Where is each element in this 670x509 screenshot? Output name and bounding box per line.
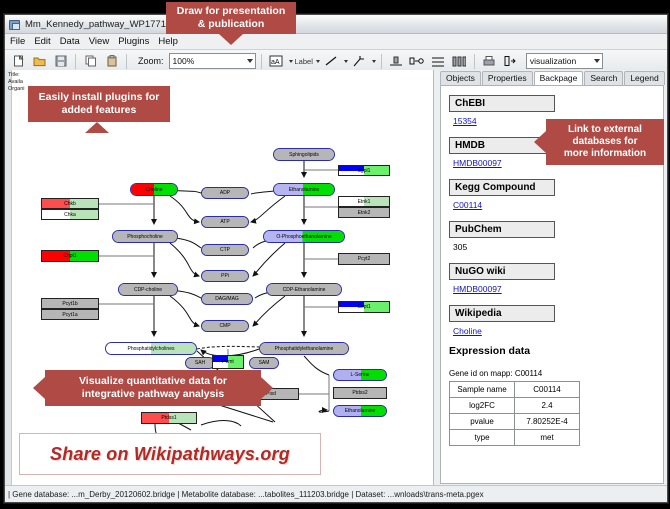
- tab-legend[interactable]: Legend: [624, 71, 664, 85]
- callout-visualize: Visualize quantitative data for integrat…: [45, 370, 261, 406]
- table-row: pvalue 7.80252E-4: [450, 414, 580, 430]
- table-cell-value: 2.4: [515, 398, 580, 414]
- align-tool-icon[interactable]: [387, 52, 406, 71]
- node-label: O-Phosphoethanolamine: [275, 234, 332, 240]
- gene-node[interactable]: Chpt1: [41, 250, 99, 262]
- node-label: CDP-Ethanolamine: [282, 287, 327, 293]
- node-label: CDP-choline: [133, 287, 163, 293]
- metabolite-node[interactable]: Choline: [130, 183, 178, 196]
- menu-item-data[interactable]: Data: [60, 36, 80, 47]
- toolbar-separator: [474, 54, 475, 69]
- metabolite-node[interactable]: DAG/MAG: [201, 293, 253, 305]
- metabolite-node[interactable]: Ethanolamine: [273, 183, 335, 196]
- pathvisio-window: Mm_Kennedy_pathway_WP1771_45176.gpml Fil…: [4, 14, 668, 503]
- db-link-kegg[interactable]: C00114: [453, 200, 663, 210]
- node-label: SAM: [258, 360, 271, 366]
- tab-backpage[interactable]: Backpage: [534, 71, 584, 86]
- callout-plugins-text: Easily install plugins for added feature…: [39, 91, 160, 117]
- callout-visualize-arrow-left-icon: [33, 377, 45, 399]
- db-header-kegg: Kegg Compound: [449, 179, 555, 196]
- interaction-tool-icon[interactable]: [350, 52, 369, 71]
- gene-node[interactable]: Pemt: [212, 355, 244, 369]
- db-header-wikipedia: Wikipedia: [449, 305, 555, 322]
- label-tool-label[interactable]: Label: [295, 57, 313, 66]
- db-link-wikipedia[interactable]: Choline: [453, 326, 663, 336]
- menu-item-file[interactable]: File: [10, 36, 25, 47]
- node-label: Chkb: [63, 201, 77, 207]
- menu-item-edit[interactable]: Edit: [34, 36, 50, 47]
- visualization-combo[interactable]: visualization: [526, 53, 603, 69]
- extra-tool-icon[interactable]: [501, 52, 520, 71]
- callout-links: Link to external databases for more info…: [546, 119, 664, 165]
- metabolite-node[interactable]: Phosphatidylethanolamine: [259, 342, 349, 355]
- callout-draw: Draw for presentation & publication: [166, 2, 296, 34]
- node-label: Pemt: [221, 359, 235, 365]
- gene-node[interactable]: Sgpl1: [338, 165, 390, 176]
- node-label: Pcyt2: [357, 256, 372, 262]
- db-link-nugo[interactable]: HMDB00097: [453, 284, 663, 294]
- copy-icon[interactable]: [81, 52, 100, 71]
- node-label: Etnk1: [357, 199, 372, 205]
- distribute-tool-icon[interactable]: [450, 52, 469, 71]
- menu-item-view[interactable]: View: [89, 36, 109, 47]
- screenshot-root: Mm_Kennedy_pathway_WP1771_45176.gpml Fil…: [0, 0, 670, 509]
- node-label: Phosphatidylethanolamine: [274, 346, 335, 352]
- db-header-nugo: NuGO wiki: [449, 263, 555, 280]
- node-label: ATP: [219, 219, 230, 225]
- metabolite-node[interactable]: L-Serine: [333, 369, 387, 381]
- metabolite-node[interactable]: Ethanolamine: [333, 405, 387, 417]
- callout-links-arrow-icon: [534, 131, 546, 153]
- chevron-down-icon: [594, 59, 600, 63]
- group-tool-icon[interactable]: [408, 52, 427, 71]
- db-header-pubchem: PubChem: [449, 221, 555, 238]
- node-label: SAH: [194, 360, 206, 366]
- interaction-tool-chevron-down-icon[interactable]: [372, 60, 376, 63]
- gene-node[interactable]: Etnk2: [338, 207, 390, 218]
- node-label: ADP: [219, 190, 231, 196]
- tab-properties[interactable]: Properties: [482, 71, 533, 85]
- table-row: Sample name C00114: [450, 382, 580, 398]
- zoom-label: Zoom:: [138, 56, 164, 66]
- node-label: Chpt1: [62, 253, 77, 259]
- label-tool-chevron-down-icon[interactable]: [316, 60, 320, 63]
- svg-text:aA: aA: [271, 59, 280, 66]
- gene-node[interactable]: Pcyt1a: [41, 309, 99, 320]
- callout-links-text: Link to external databases for more info…: [564, 124, 646, 160]
- share-banner: Share on Wikipathways.org: [19, 433, 321, 475]
- table-row: type met: [450, 430, 580, 446]
- db-header-chebi: ChEBI: [449, 95, 555, 112]
- table-cell-key: log2FC: [450, 398, 515, 414]
- new-file-icon[interactable]: [9, 52, 28, 71]
- node-label: Sgpl1: [357, 168, 372, 174]
- callout-visualize-text: Visualize quantitative data for integrat…: [79, 375, 227, 401]
- menu-item-help[interactable]: Help: [158, 36, 178, 47]
- stack-tool-icon[interactable]: [429, 52, 448, 71]
- menu-item-plugins[interactable]: Plugins: [118, 36, 149, 47]
- metabolite-node[interactable]: Sphingolipids: [273, 148, 335, 161]
- gene-node[interactable]: Etnk1: [338, 196, 390, 207]
- node-label: Phosphocholine: [126, 234, 164, 240]
- gene-node[interactable]: Chkb: [41, 198, 99, 209]
- open-file-icon[interactable]: [30, 52, 49, 71]
- metabolite-node[interactable]: O-Phosphoethanolamine: [263, 230, 345, 243]
- metabolite-node[interactable]: SAM: [249, 357, 279, 369]
- node-label: Ethanolamine: [288, 187, 321, 193]
- node-label: Choline: [145, 187, 164, 193]
- save-file-icon[interactable]: [51, 52, 70, 71]
- node-label: Phosphatidylcholines: [127, 346, 176, 352]
- status-bar-text: | Gene database: ...m_Derby_20120602.bri…: [8, 490, 484, 499]
- node-label: Pcyt1a: [61, 312, 78, 318]
- metabolite-node[interactable]: Phosphocholine: [112, 230, 178, 243]
- callout-draw-text: Draw for presentation & publication: [177, 5, 286, 31]
- menu-bar: File Edit Data View Plugins Help: [5, 34, 667, 50]
- metabolite-node[interactable]: PPi: [201, 270, 249, 282]
- title-bar: Mm_Kennedy_pathway_WP1771_45176.gpml: [5, 15, 667, 34]
- zoom-value: 100%: [173, 56, 195, 66]
- node-label: PPi: [220, 273, 230, 279]
- tab-objects[interactable]: Objects: [440, 71, 481, 85]
- gene-node[interactable]: Ptdss1: [141, 412, 197, 424]
- side-panel-tabs: Objects Properties Backpage Search Legen…: [434, 70, 667, 85]
- toolbar-separator: [261, 54, 262, 69]
- status-bar: | Gene database: ...m_Derby_20120602.bri…: [5, 485, 667, 502]
- share-banner-text: Share on Wikipathways.org: [50, 444, 290, 465]
- table-cell-value: C00114: [515, 382, 580, 398]
- metabolite-node[interactable]: ATP: [201, 216, 249, 228]
- line-tool-chevron-down-icon[interactable]: [344, 60, 348, 63]
- node-label: Pcyt1b: [61, 301, 78, 307]
- table-row: log2FC 2.4: [450, 398, 580, 414]
- gene-node[interactable]: Cept1: [338, 301, 390, 313]
- table-cell-key: pvalue: [450, 414, 515, 430]
- node-label: Chka: [63, 212, 77, 218]
- metabolite-node[interactable]: Phosphatidylcholines: [105, 342, 197, 355]
- gene-node[interactable]: Pcyt2: [338, 253, 390, 265]
- callout-draw-arrow-icon: [219, 34, 243, 45]
- toolbar-separator: [75, 54, 76, 69]
- expression-table: Sample name C00114 log2FC 2.4 pvalue 7.8…: [449, 381, 580, 446]
- table-cell-key: Sample name: [450, 382, 515, 398]
- gene-node[interactable]: Ptdss2: [333, 387, 387, 399]
- text-tool-chevron-down-icon[interactable]: [289, 60, 293, 63]
- callout-plugins-arrow-icon: [85, 122, 109, 133]
- line-tool-icon[interactable]: [322, 52, 341, 71]
- node-label: CMP: [218, 323, 231, 329]
- node-label: DAG/MAG: [214, 296, 240, 302]
- gene-id-label: Gene id on mapp: C00114: [449, 369, 663, 378]
- metabolite-node[interactable]: SAH: [185, 357, 215, 369]
- node-label: Etnk2: [357, 210, 372, 216]
- node-label: Ptdss2: [351, 390, 368, 396]
- callout-visualize-arrow-right-icon: [261, 377, 273, 399]
- node-label: L-Serine: [350, 372, 371, 378]
- metabolite-node[interactable]: ADP: [201, 187, 249, 199]
- metabolite-node[interactable]: CDP-Ethanolamine: [266, 283, 342, 296]
- toolbar-separator: [126, 54, 127, 69]
- db-value-pubchem: 305: [453, 242, 663, 252]
- node-label: CTP: [219, 247, 231, 253]
- callout-plugins: Easily install plugins for added feature…: [28, 86, 170, 122]
- visualization-value: visualization: [530, 56, 576, 66]
- node-label: Cept1: [356, 304, 371, 310]
- table-cell-key: type: [450, 430, 515, 446]
- metabolite-node[interactable]: CMP: [201, 320, 249, 332]
- expression-data-title: Expression data: [449, 345, 663, 357]
- gene-node[interactable]: Pcyt1b: [41, 298, 99, 309]
- text-tool-icon[interactable]: aA: [267, 52, 286, 71]
- toolbar-separator: [381, 54, 382, 69]
- node-label: Sphingolipids: [288, 152, 320, 158]
- metabolite-node[interactable]: CTP: [201, 244, 249, 256]
- pathway-canvas[interactable]: Title: Availa Organi: [5, 70, 434, 486]
- print-icon[interactable]: [480, 52, 499, 71]
- paste-icon[interactable]: [102, 52, 121, 71]
- table-cell-value: met: [515, 430, 580, 446]
- chevron-down-icon: [247, 59, 253, 63]
- zoom-combo[interactable]: 100%: [169, 53, 256, 69]
- tab-search[interactable]: Search: [584, 71, 623, 85]
- node-label: Ethanolamine: [344, 408, 377, 414]
- node-label: Ptdss1: [160, 415, 177, 421]
- gene-node[interactable]: Chka: [41, 209, 99, 220]
- app-icon: [9, 19, 20, 30]
- metabolite-node[interactable]: CDP-choline: [118, 283, 178, 296]
- table-cell-value: 7.80252E-4: [515, 414, 580, 430]
